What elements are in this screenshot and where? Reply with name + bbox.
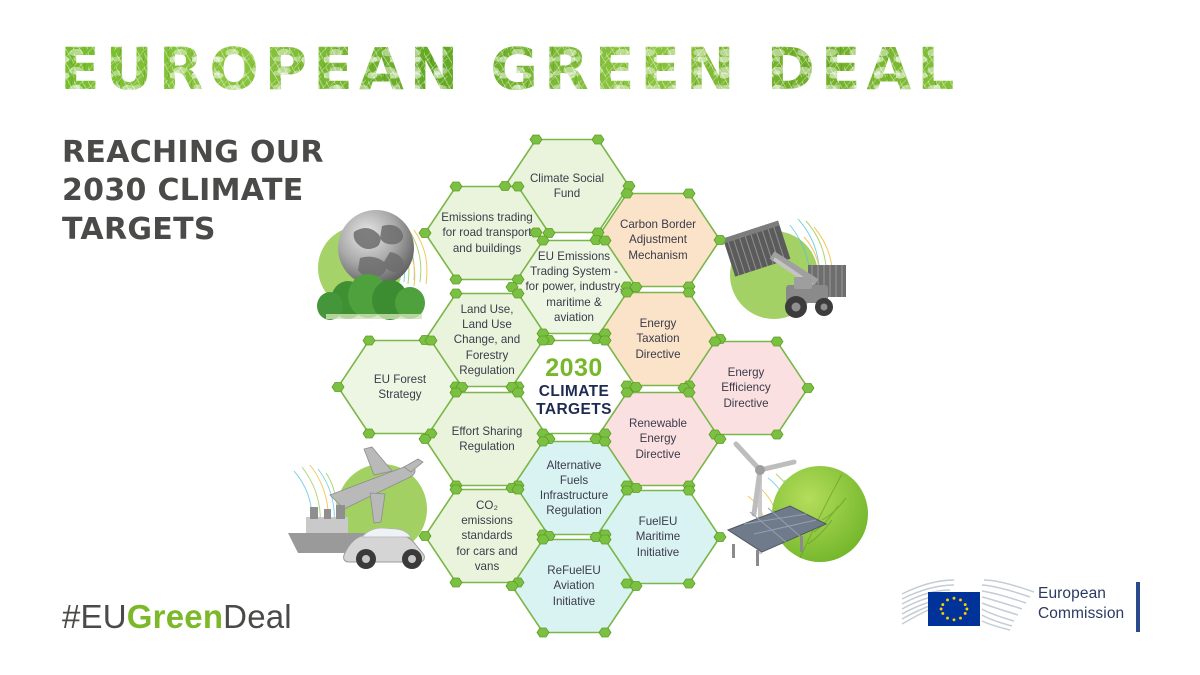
hexagon-label-emissions-trading-road-transport-buildings: Emissions tradingfor road transportand b… [425,179,549,286]
hexagon-label-line: Regulation [540,503,608,518]
hexagon-label-text: CO₂emissionsstandardsfor cars andvans [456,498,517,573]
hexagon-label-line: Renewable [629,416,687,431]
hexagon-label-line: CO₂ [456,498,517,513]
hexagon-label-line: Efficiency [721,380,770,395]
center-climate-targets-label: 2030CLIMATETARGETS [512,333,636,440]
center-caption-line-1: CLIMATE [536,383,612,401]
hexagon-label-text: Carbon BorderAdjustmentMechanism [620,217,696,262]
hexagon-label-alternative-fuels-infrastructure-regulation: AlternativeFuelsInfrastructureRegulation [512,434,636,541]
hexagon-label-text: Climate SocialFund [530,171,604,201]
hexagon-label-eu-emissions-trading-system: EU EmissionsTrading System -for power, i… [512,233,636,340]
center-caption: CLIMATETARGETS [536,383,612,420]
hexagon-label-line: Initiative [636,545,680,560]
hexagon-label-line: aviation [525,310,622,325]
hexagon-label-refueleu-aviation-initiative: ReFuelEUAviationInitiative [512,532,636,639]
hashtag-highlight: Green [127,598,223,635]
hexagon-label-co2-emissions-standards-cars-vans: CO₂emissionsstandardsfor cars andvans [425,482,549,589]
hexagon-label-line: Directive [629,447,687,462]
hexagon-label-line: Regulation [454,363,520,378]
hexagon-label-text: EU ForestStrategy [374,372,426,402]
hexagon-label-text: EU EmissionsTrading System -for power, i… [525,249,622,324]
hexagon-label-line: Carbon Border [620,217,696,232]
eu-emblem-icon [900,578,1036,636]
hexagon-label-line: Land Use, [454,302,520,317]
hexagon-label-line: Forestry [454,348,520,363]
infographic-canvas: EUROPEAN GREEN DEAL REACHING OUR 2030 CL… [0,0,1200,675]
hexagon-label-line: Mechanism [620,248,696,263]
logo-accent-bar [1136,582,1140,632]
hexagon-label-line: Maritime [636,529,680,544]
hexagon-label-line: Aviation [547,578,600,593]
hexagon-label-line: Land Use [454,317,520,332]
hexagon-label-line: vans [456,559,517,574]
hexagon-label-carbon-border-adjustment-mechanism: Carbon BorderAdjustmentMechanism [596,186,720,293]
hexagon-label-line: Energy [635,316,680,331]
hexagon-label-line: Infrastructure [540,488,608,503]
hexagon-label-text: RenewableEnergyDirective [629,416,687,461]
hexagon-label-text: ReFuelEUAviationInitiative [547,563,600,608]
hexagon-label-eu-forest-strategy: EU ForestStrategy [338,333,462,440]
hexagon-label-line: Adjustment [620,232,696,247]
european-commission-logo: European Commission [900,578,1145,640]
hexagon-label-energy-efficiency-directive: EnergyEfficiencyDirective [684,334,808,441]
hexagon-label-line: EU Emissions [525,249,622,264]
hexagon-label-text: Land Use,Land UseChange, andForestryRegu… [454,302,520,377]
european-commission-wordmark: European Commission [1038,584,1124,625]
hexagon-label-line: Change, and [454,332,520,347]
hexagon-label-line: Energy [629,431,687,446]
hexagon-label-layer: Climate SocialFundEmissions tradingfor r… [0,0,1200,675]
hexagon-label-line: for power, industry, [525,279,622,294]
center-caption-line-2: TARGETS [536,401,612,419]
hexagon-label-line: EU Forest [374,372,426,387]
hexagon-label-line: Emissions trading [441,210,533,225]
organisation-line-1: European [1038,584,1124,604]
hexagon-label-text: AlternativeFuelsInfrastructureRegulation [540,458,608,518]
center-year: 2030 [545,355,603,381]
hexagon-label-climate-social-fund: Climate SocialFund [505,132,629,239]
hexagon-label-line: Directive [721,396,770,411]
hexagon-label-line: for cars and [456,544,517,559]
hexagon-label-line: maritime & [525,295,622,310]
hexagon-label-line: ReFuelEU [547,563,600,578]
hashtag-suffix: Deal [223,598,292,635]
hexagon-label-line: for road transport [441,225,533,240]
hexagon-label-line: Alternative [540,458,608,473]
hashtag-eugreendeal: #EUGreenDeal [62,598,292,636]
hexagon-label-line: standards [456,528,517,543]
hexagon-label-line: and buildings [441,241,533,256]
hexagon-label-line: Initiative [547,594,600,609]
hexagon-label-text: Emissions tradingfor road transportand b… [441,210,533,255]
hexagon-label-line: Fund [530,186,604,201]
hexagon-label-line: Regulation [452,439,523,454]
hexagon-label-text: FuelEUMaritimeInitiative [636,514,680,559]
hexagon-label-line: Strategy [374,387,426,402]
hexagon-label-line: Trading System - [525,264,622,279]
hexagon-label-text: EnergyEfficiencyDirective [721,365,770,410]
organisation-line-2: Commission [1038,604,1124,624]
hexagon-label-line: Climate Social [530,171,604,186]
hexagon-label-line: Fuels [540,473,608,488]
hexagon-label-line: FuelEU [636,514,680,529]
hexagon-label-line: Taxation [635,331,680,346]
hexagon-label-line: Directive [635,347,680,362]
hexagon-label-text: EnergyTaxationDirective [635,316,680,361]
hexagon-label-line: emissions [456,513,517,528]
hexagon-label-line: Energy [721,365,770,380]
hexagon-label-fueleu-maritime-initiative: FuelEUMaritimeInitiative [596,483,720,590]
hashtag-prefix: #EU [62,598,127,635]
